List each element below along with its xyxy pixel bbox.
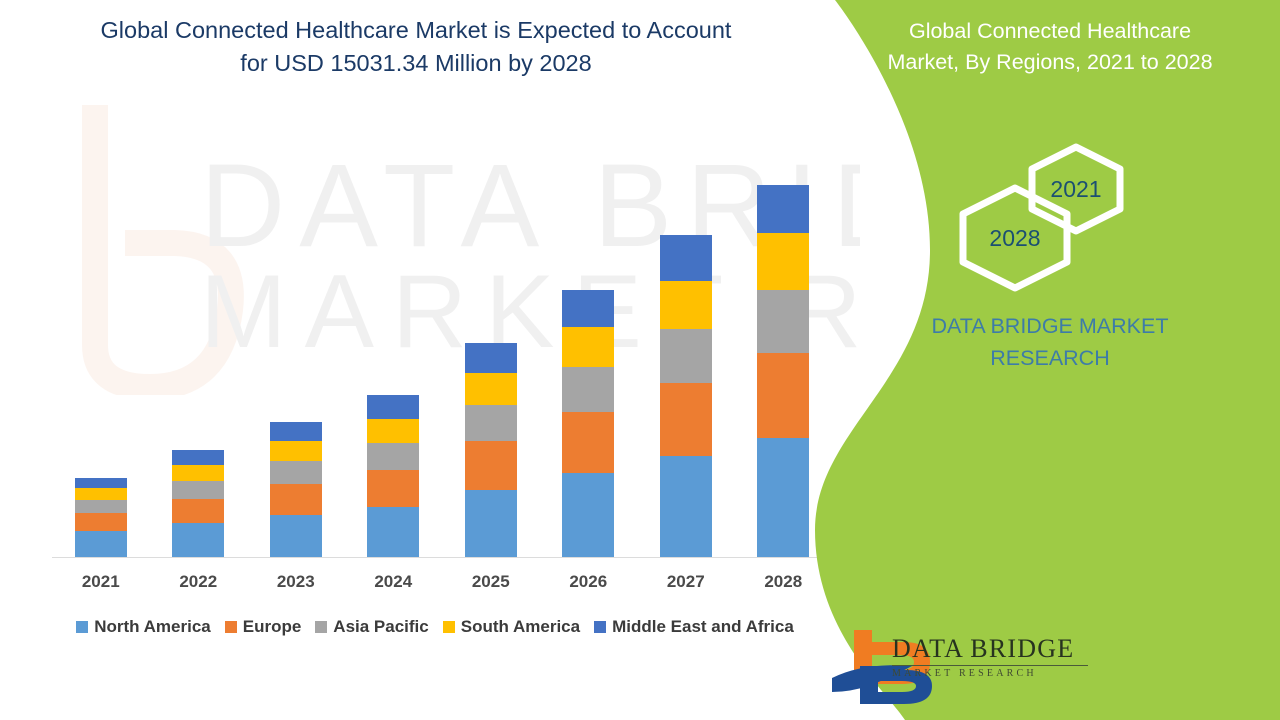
bar-segment — [757, 185, 809, 233]
bar-segment — [172, 450, 224, 465]
bar-segment — [367, 443, 419, 470]
bar-segment — [367, 395, 419, 419]
side-panel: Global Connected Healthcare Market, By R… — [810, 0, 1280, 720]
legend-swatch-icon — [315, 621, 327, 633]
bar-group-2023 — [270, 422, 322, 557]
x-axis-tick-2021: 2021 — [56, 572, 146, 592]
hexagon-badge-2021: 2021 — [1028, 143, 1124, 235]
bar-segment — [562, 327, 614, 367]
chart-title-line-2: for USD 15031.34 Million by 2028 — [36, 47, 796, 80]
bar-segment — [465, 490, 517, 557]
x-axis-tick-2023: 2023 — [251, 572, 341, 592]
logo-wordmark: DATA BRIDGE MARKET RESEARCH — [892, 636, 1092, 679]
bar-segment — [75, 488, 127, 500]
legend-label: Middle East and Africa — [612, 617, 794, 637]
bar-segment — [367, 507, 419, 557]
bar-segment — [75, 531, 127, 557]
bar-segment — [660, 383, 712, 456]
bar-segment — [465, 405, 517, 441]
x-axis-line — [52, 557, 832, 558]
bar-segment — [367, 470, 419, 507]
bar-segment — [270, 484, 322, 515]
bar-group-2021 — [75, 478, 127, 557]
x-axis-tick-2025: 2025 — [446, 572, 536, 592]
bar-segment — [465, 373, 517, 405]
x-axis-tick-2026: 2026 — [543, 572, 633, 592]
bar-group-2025 — [465, 343, 517, 557]
bar-group-2022 — [172, 450, 224, 557]
x-axis-tick-2022: 2022 — [153, 572, 243, 592]
legend-item[interactable]: Asia Pacific — [315, 617, 428, 637]
legend-item[interactable]: Middle East and Africa — [594, 617, 794, 637]
bar-segment — [757, 290, 809, 353]
bar-segment — [270, 422, 322, 441]
legend-label: Europe — [243, 617, 302, 637]
x-axis-tick-2027: 2027 — [641, 572, 731, 592]
bar-segment — [660, 235, 712, 281]
legend-swatch-icon — [225, 621, 237, 633]
bar-segment — [270, 441, 322, 461]
bar-segment — [562, 290, 614, 327]
brand-line-2: RESEARCH — [835, 342, 1265, 374]
bar-segment — [75, 500, 127, 513]
bar-segment — [465, 441, 517, 490]
bar-segment — [757, 233, 809, 290]
bar-group-2026 — [562, 290, 614, 557]
bar-segment — [75, 478, 127, 488]
bar-segment — [562, 367, 614, 412]
legend-item[interactable]: South America — [443, 617, 580, 637]
bar-segment — [660, 281, 712, 329]
bar-segment — [270, 515, 322, 557]
legend-swatch-icon — [594, 621, 606, 633]
x-axis-tick-2024: 2024 — [348, 572, 438, 592]
side-title-line-1: Global Connected Healthcare — [840, 16, 1260, 47]
legend-label: South America — [461, 617, 580, 637]
page-title: Global Connected Healthcare Market is Ex… — [36, 14, 796, 81]
bar-segment — [172, 499, 224, 523]
logo-name: DATA BRIDGE — [892, 636, 1092, 662]
legend-swatch-icon — [76, 621, 88, 633]
logo-tagline: MARKET RESEARCH — [892, 669, 1092, 679]
bar-segment — [172, 523, 224, 557]
legend-label: North America — [94, 617, 211, 637]
chart-legend: North AmericaEuropeAsia PacificSouth Ame… — [52, 617, 832, 637]
bar-segment — [172, 481, 224, 499]
bar-segment — [270, 461, 322, 484]
bar-segment — [757, 353, 809, 439]
chart-panel: DATA BRIDGE MARKET RESEARCH Global Conne… — [0, 0, 860, 720]
bar-group-2028 — [757, 185, 809, 557]
bar-segment — [660, 456, 712, 557]
hexagon-label-2021: 2021 — [1028, 143, 1124, 235]
bar-segment — [562, 473, 614, 557]
bar-segment — [172, 465, 224, 481]
legend-item[interactable]: North America — [76, 617, 211, 637]
side-title-line-2: Market, By Regions, 2021 to 2028 — [840, 47, 1260, 78]
chart-title-line-1: Global Connected Healthcare Market is Ex… — [36, 14, 796, 47]
legend-swatch-icon — [443, 621, 455, 633]
bar-segment — [465, 343, 517, 373]
legend-label: Asia Pacific — [333, 617, 428, 637]
bar-segment — [660, 329, 712, 383]
side-panel-title: Global Connected Healthcare Market, By R… — [840, 16, 1260, 77]
plot-area — [52, 100, 832, 558]
bar-group-2027 — [660, 235, 712, 557]
legend-item[interactable]: Europe — [225, 617, 302, 637]
bar-segment — [367, 419, 419, 443]
bar-group-2024 — [367, 395, 419, 557]
brand-name-text: DATA BRIDGE MARKET RESEARCH — [835, 310, 1265, 375]
bar-segment — [75, 513, 127, 531]
bar-segment — [757, 438, 809, 557]
x-axis-labels: 20212022202320242025202620272028 — [52, 572, 832, 600]
brand-line-1: DATA BRIDGE MARKET — [835, 310, 1265, 342]
bar-segment — [562, 412, 614, 473]
logo-divider — [892, 665, 1088, 666]
